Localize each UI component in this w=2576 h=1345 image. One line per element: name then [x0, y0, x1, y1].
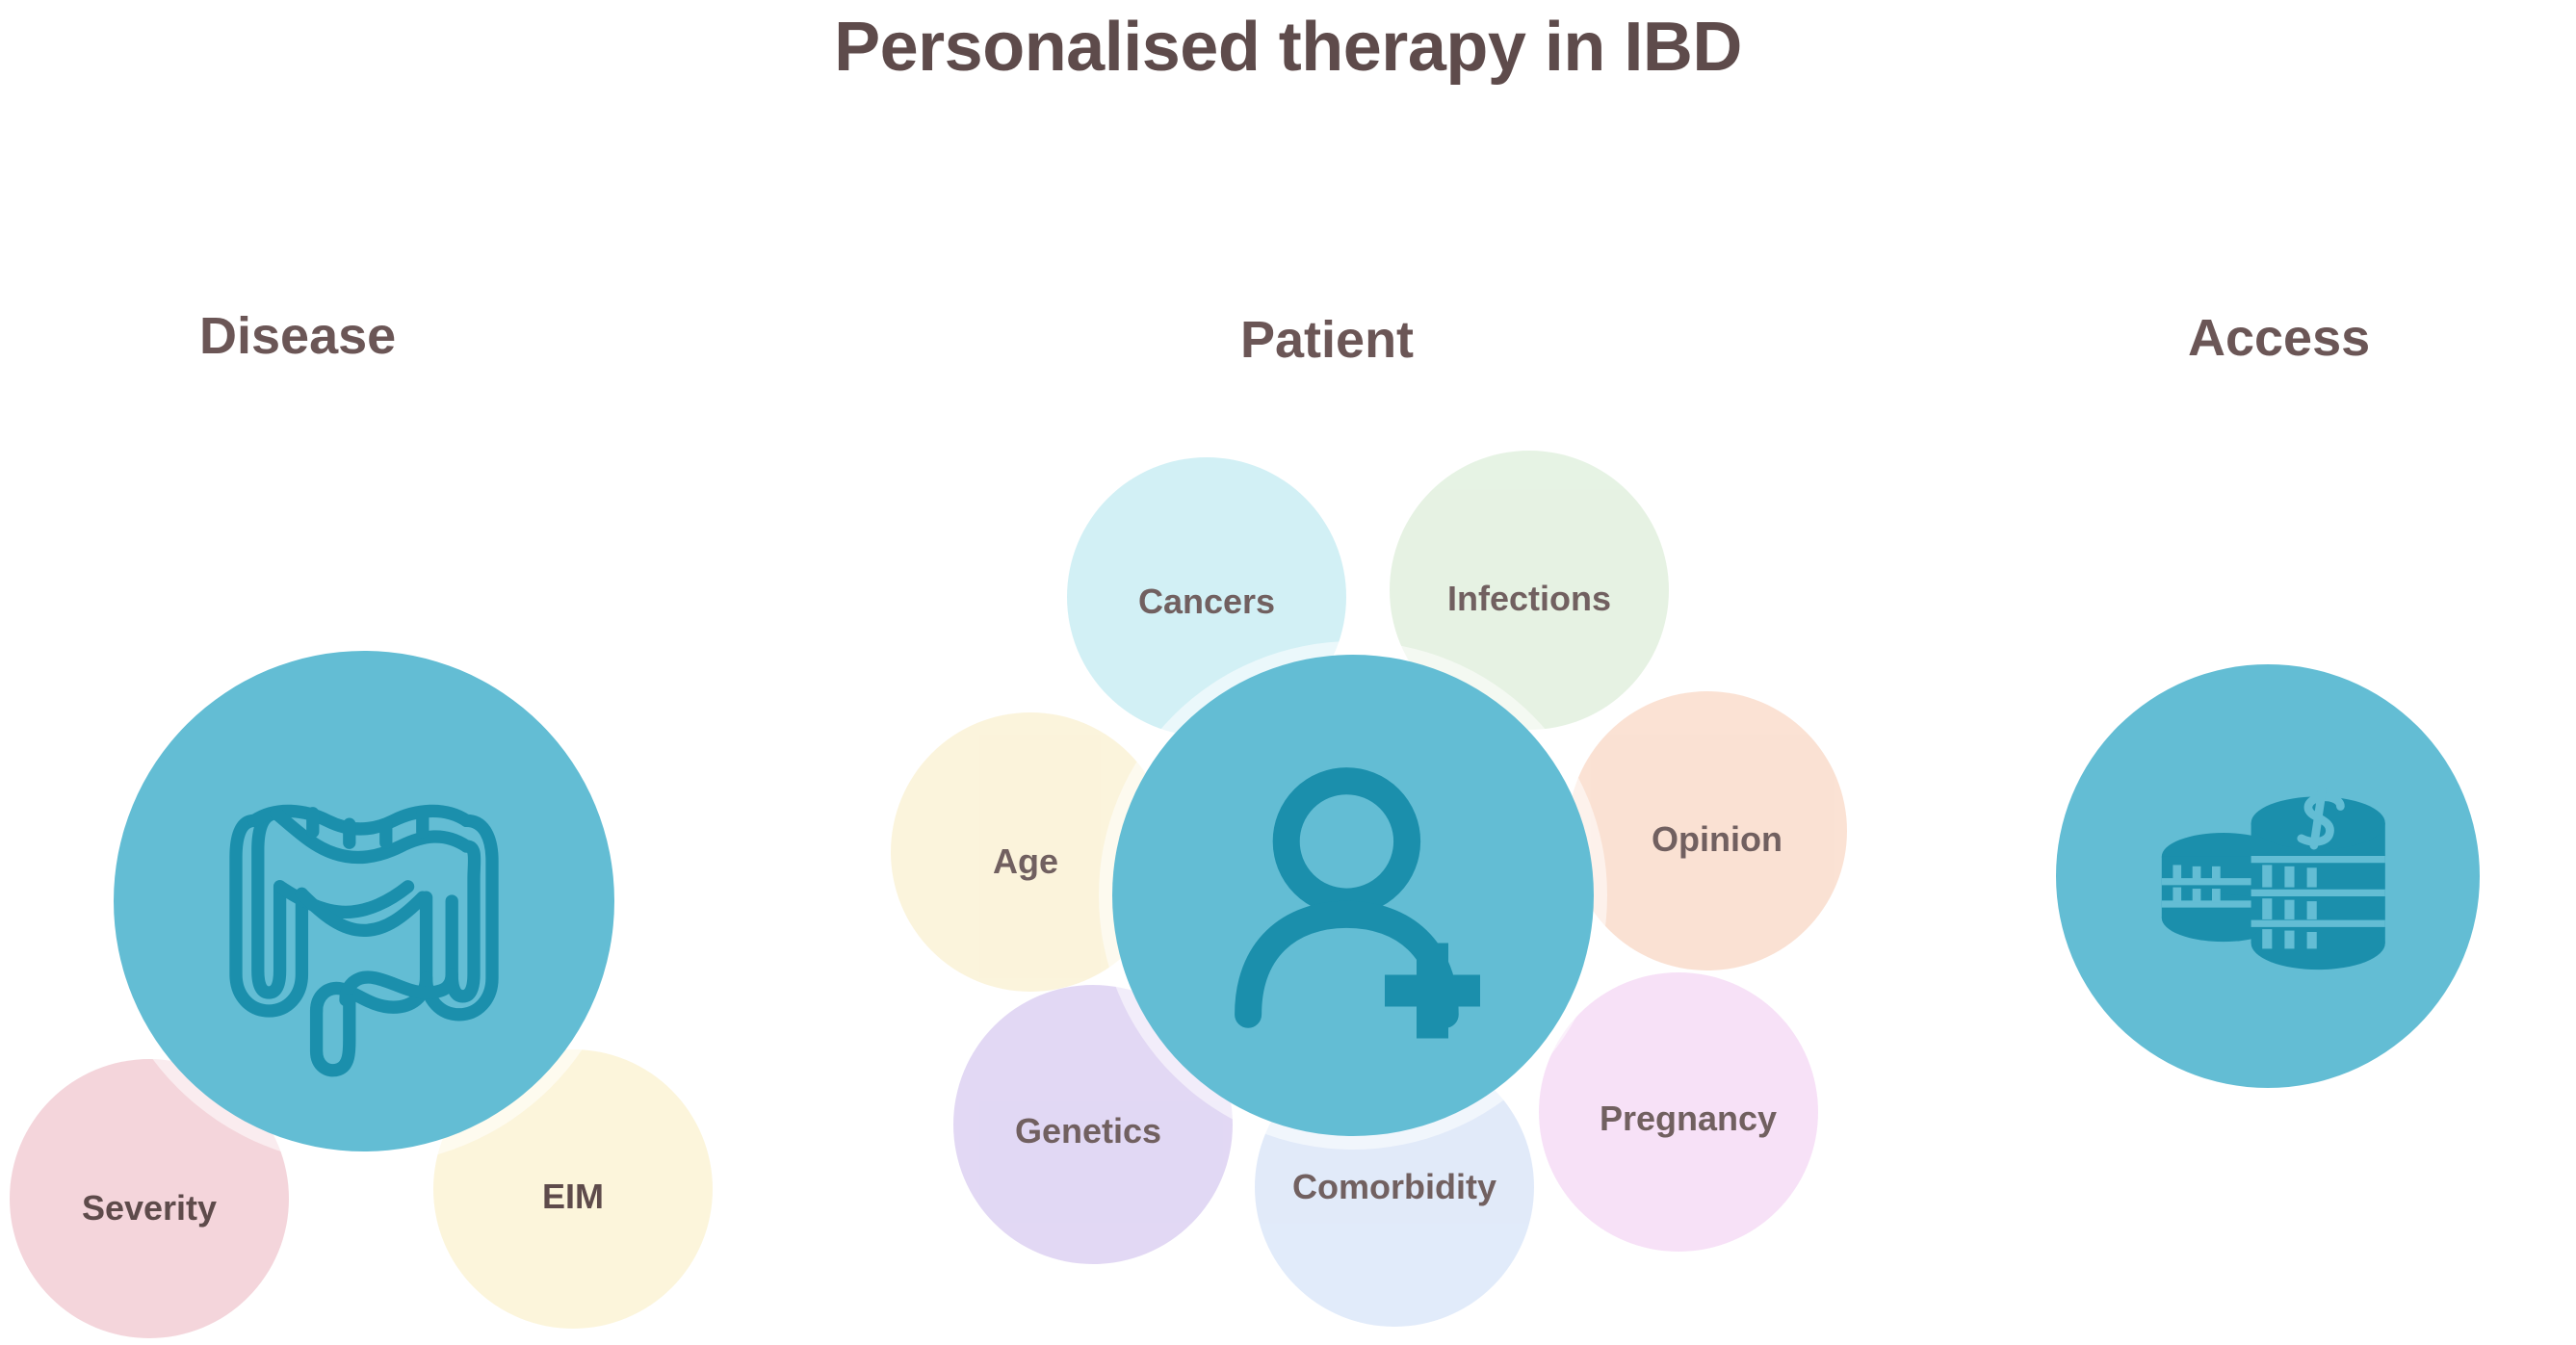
patient-center-circle[interactable]: [1112, 655, 1594, 1136]
bubble-opinion-label: Opinion: [1652, 819, 1782, 860]
heading-patient: Patient: [1240, 310, 1414, 370]
bubble-cancers-label: Cancers: [1138, 582, 1275, 622]
slide-canvas: Personalised therapy in IBD Disease Pati…: [0, 0, 2576, 1345]
bubble-eim-label: EIM: [542, 1177, 604, 1217]
bubble-genetics-label: Genetics: [1015, 1111, 1161, 1151]
heading-access: Access: [2188, 308, 2370, 368]
patient-person-medical-icon: [1194, 737, 1512, 1054]
colon-intestine-icon: [181, 718, 547, 1084]
bubble-opinion[interactable]: Opinion: [1568, 691, 1847, 970]
page-title: Personalised therapy in IBD: [0, 8, 2576, 87]
bubble-pregnancy[interactable]: Pregnancy: [1539, 972, 1818, 1252]
heading-disease: Disease: [199, 306, 396, 366]
bubble-age-label: Age: [993, 841, 1058, 882]
disease-center-circle[interactable]: [114, 651, 614, 1151]
bubble-severity-label: Severity: [82, 1188, 217, 1229]
bubble-pregnancy-label: Pregnancy: [1600, 1099, 1777, 1139]
medical-cross-icon: [1385, 944, 1480, 1039]
bubble-comorbidity-label: Comorbidity: [1292, 1167, 1496, 1207]
access-center-circle[interactable]: [2056, 664, 2480, 1088]
bubble-infections-label: Infections: [1447, 579, 1611, 619]
coin-stack-dollar-icon: [2128, 737, 2407, 1016]
